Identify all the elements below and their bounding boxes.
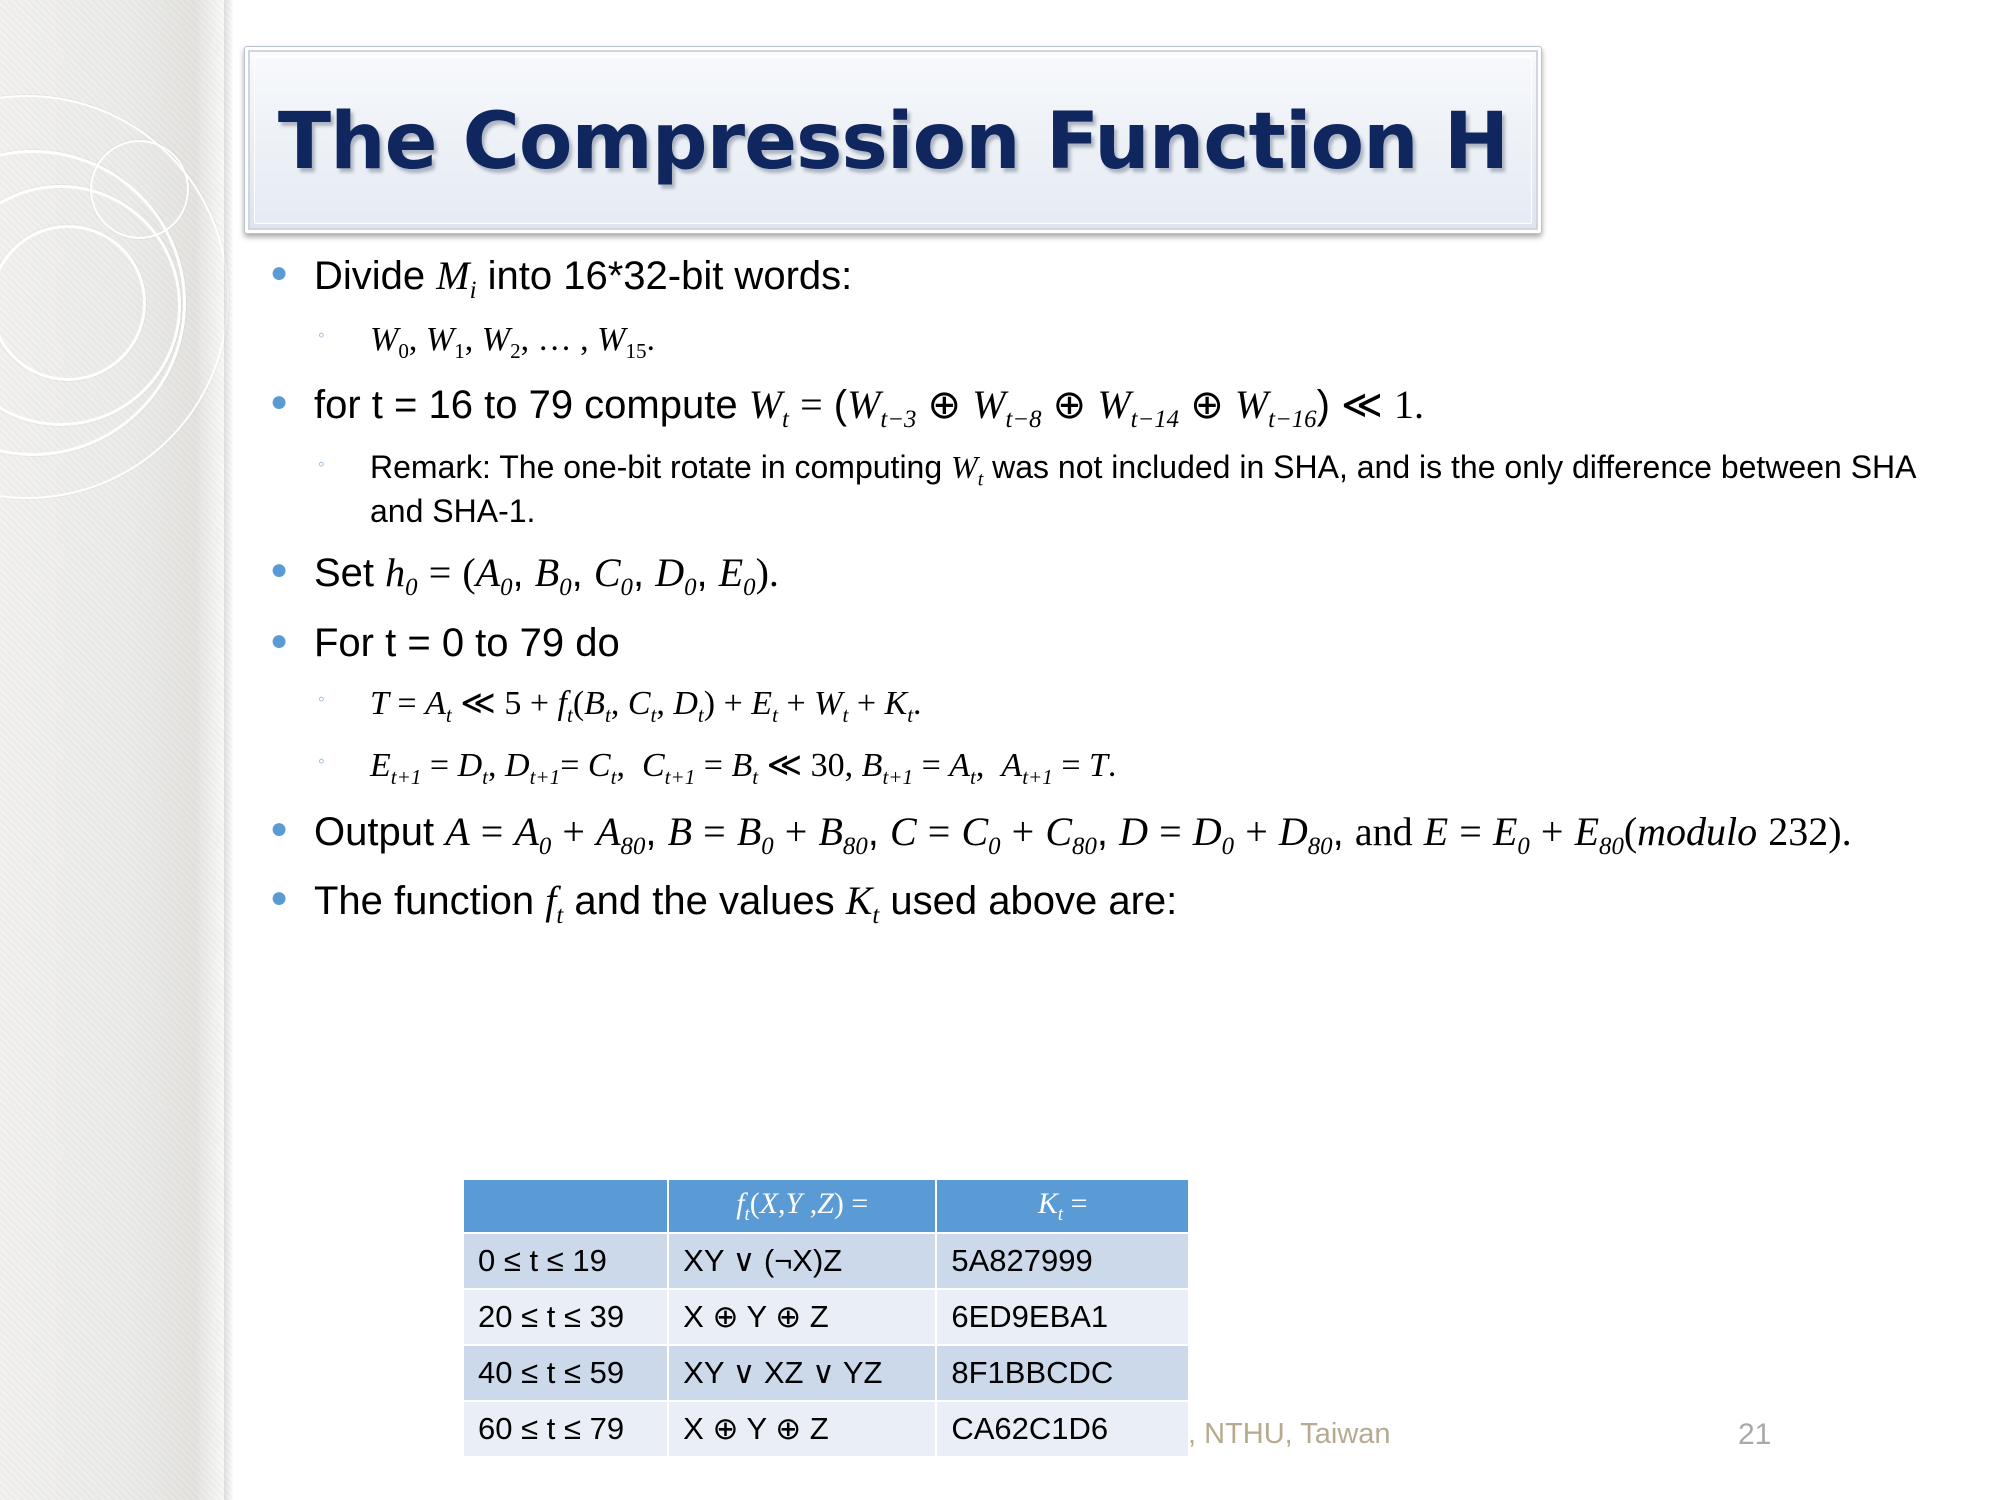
bullet-function-intro: ● The function ft and the values Kt used… [252,877,1972,930]
bullet-for-t-0-79-text: For t = 0 to 79 do [314,620,1972,667]
bullet-dot-icon: ● [252,549,314,592]
bullet-remark-text: Remark: The one-bit rotate in computing … [370,448,1972,531]
bullet-remark: ◦ Remark: The one-bit rotate in computin… [252,448,1972,531]
slide-body: ● Divide Mi into 16*32-bit words: ◦ W0, … [252,252,1972,945]
bullet-dot-icon: ● [252,808,314,851]
ft-kt-table: ft(X,Y ,Z) = Kt = 0 ≤ t ≤ 19 XY ∨ (¬X)Z … [462,1178,1190,1458]
cell-k: 8F1BBCDC [937,1346,1188,1400]
bullet-dot-icon: ● [252,877,314,920]
table-header-ft: ft(X,Y ,Z) = [669,1180,935,1232]
cell-range: 20 ≤ t ≤ 39 [464,1290,667,1344]
bullet-set-h0-text: Set h0 = (A0, B0, C0, D0, E0). [314,549,1972,602]
decorative-left-band [0,0,232,1500]
bullet-divide-text: Divide Mi into 16*32-bit words: [314,252,1972,305]
bullet-function-intro-text: The function ft and the values Kt used a… [314,877,1972,930]
bullet-set-h0: ● Set h0 = (A0, B0, C0, D0, E0). [252,549,1972,602]
bullet-output-text: Output A = A0 + A80, B = B0 + B80, C = C… [314,808,1972,861]
title-plaque: The Compression Function H [244,46,1542,234]
bullet-eq-T: ◦ T = At ≪ 5 + ft(Bt, Ct, Dt) + Et + Wt … [252,683,1972,729]
cell-k: 5A827999 [937,1234,1188,1288]
bullet-for-t-0-79: ● For t = 0 to 79 do [252,620,1972,667]
cell-k: 6ED9EBA1 [937,1290,1188,1344]
table-header-row: ft(X,Y ,Z) = Kt = [464,1180,1188,1232]
bullet-divide: ● Divide Mi into 16*32-bit words: [252,252,1972,305]
bullet-circle-icon: ◦ [252,745,370,778]
bullet-eq-T-text: T = At ≪ 5 + ft(Bt, Ct, Dt) + Et + Wt + … [370,683,1972,729]
cell-f: X ⊕ Y ⊕ Z [669,1290,935,1344]
table-row: 40 ≤ t ≤ 59 XY ∨ XZ ∨ YZ 8F1BBCDC [464,1346,1188,1400]
cell-range: 0 ≤ t ≤ 19 [464,1234,667,1288]
bullet-dot-icon: ● [252,252,314,295]
bullet-circle-icon: ◦ [252,448,370,481]
cell-f: XY ∨ XZ ∨ YZ [669,1346,935,1400]
bullet-for-t-16-79-text: for t = 16 to 79 compute Wt = (Wt−3 ⊕ Wt… [314,381,1972,434]
cell-range: 60 ≤ t ≤ 79 [464,1402,667,1456]
bullet-circle-icon: ◦ [252,683,370,716]
bullet-w-words: ◦ W0, W1, W2, … , W15. [252,319,1972,365]
footer-text: , NTHU, Taiwan [1188,1418,1391,1451]
bullet-eq-rotate: ◦ Et+1 = Dt, Dt+1= Ct, Ct+1 = Bt ≪ 30, B… [252,745,1972,791]
bullet-circle-icon: ◦ [252,319,370,352]
table-row: 0 ≤ t ≤ 19 XY ∨ (¬X)Z 5A827999 [464,1234,1188,1288]
cell-f: XY ∨ (¬X)Z [669,1234,935,1288]
bullet-w-words-text: W0, W1, W2, … , W15. [370,319,1972,365]
table-row: 60 ≤ t ≤ 79 X ⊕ Y ⊕ Z CA62C1D6 [464,1402,1188,1456]
cell-range: 40 ≤ t ≤ 59 [464,1346,667,1400]
bullet-dot-icon: ● [252,381,314,424]
table-row: 20 ≤ t ≤ 39 X ⊕ Y ⊕ Z 6ED9EBA1 [464,1290,1188,1344]
bullet-dot-icon: ● [252,620,314,663]
bullet-for-t-16-79: ● for t = 16 to 79 compute Wt = (Wt−3 ⊕ … [252,381,1972,434]
page-title: The Compression Function H [245,97,1541,187]
cell-f: X ⊕ Y ⊕ Z [669,1402,935,1456]
table-header-kt: Kt = [937,1180,1188,1232]
decorative-ring-5 [0,95,229,499]
footer-clip: , NTHU, Taiwan [1188,1410,1508,1462]
table-header-range [464,1180,667,1232]
bullet-eq-rotate-text: Et+1 = Dt, Dt+1= Ct, Ct+1 = Bt ≪ 30, Bt+… [370,745,1972,791]
slide-number: 21 [1738,1418,1771,1452]
bullet-output: ● Output A = A0 + A80, B = B0 + B80, C =… [252,808,1972,861]
band-edge-shadow [224,0,234,1500]
cell-k: CA62C1D6 [937,1402,1188,1456]
